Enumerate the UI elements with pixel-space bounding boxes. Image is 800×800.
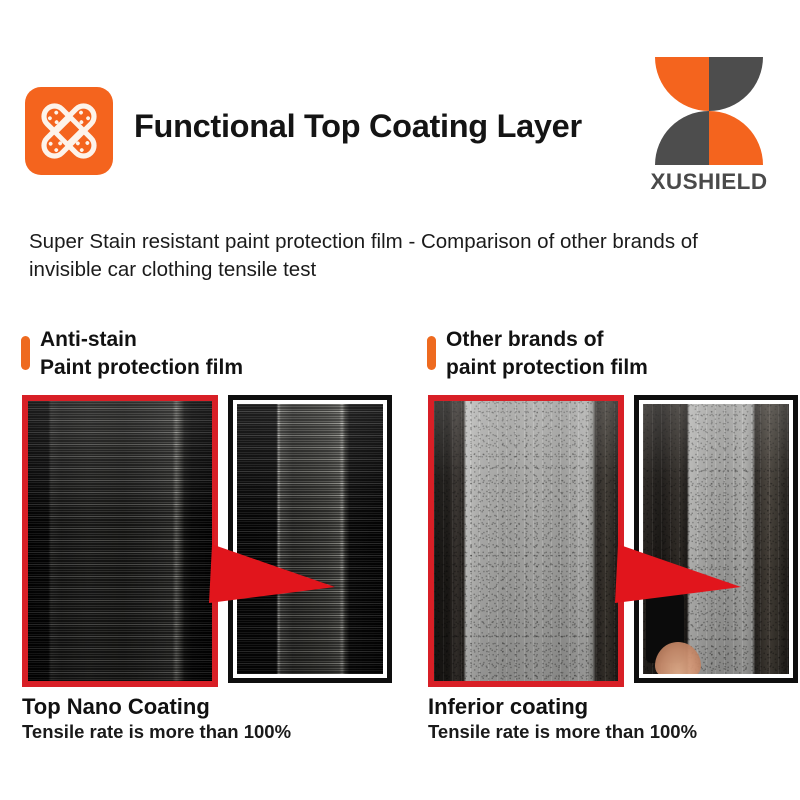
photo-row-anti-stain (22, 395, 402, 687)
subtitle: Super Stain resistant paint protection f… (29, 228, 759, 285)
photo-other-brands-wide (434, 401, 618, 681)
caption-anti-stain: Top Nano Coating Tensile rate is more th… (22, 694, 400, 743)
orange-pill-marker (427, 336, 436, 370)
orange-pill-marker (21, 336, 30, 370)
caption-subtext: Tensile rate is more than 100% (22, 721, 400, 743)
photo-row-other-brands (428, 395, 800, 687)
header: Functional Top Coating Layer XUSHIELD (0, 0, 800, 210)
comparison-columns: Anti-stain Paint protection film (0, 326, 800, 756)
photo-frame-zoom-other-brands (634, 395, 798, 683)
photo-frame-zoom-anti-stain (228, 395, 392, 683)
photo-anti-stain-zoom (237, 404, 383, 674)
infographic-page: Functional Top Coating Layer XUSHIELD Su… (0, 0, 800, 800)
column-heading-text: Other brands of paint protection film (446, 326, 800, 381)
caption-title: Top Nano Coating (22, 694, 400, 720)
photo-frame-main-other-brands (428, 395, 624, 687)
column-heading-anti-stain: Anti-stain Paint protection film (12, 326, 402, 388)
photo-other-brands-zoom (643, 404, 789, 674)
column-anti-stain: Anti-stain Paint protection film (12, 326, 402, 756)
photo-frame-main-anti-stain (22, 395, 218, 687)
photo-anti-stain-wide (28, 401, 212, 681)
crossed-bandage-icon (25, 87, 113, 175)
column-heading-text: Anti-stain Paint protection film (40, 326, 402, 381)
page-title: Functional Top Coating Layer (134, 108, 582, 145)
brand-logo: XUSHIELD (648, 55, 770, 195)
caption-subtext: Tensile rate is more than 100% (428, 721, 800, 743)
caption-other-brands: Inferior coating Tensile rate is more th… (428, 694, 800, 743)
column-other-brands: Other brands of paint protection film (418, 326, 800, 756)
brand-name: XUSHIELD (648, 169, 770, 195)
caption-title: Inferior coating (428, 694, 800, 720)
column-heading-other-brands: Other brands of paint protection film (418, 326, 800, 388)
xushield-pinwheel-logo (653, 55, 765, 167)
